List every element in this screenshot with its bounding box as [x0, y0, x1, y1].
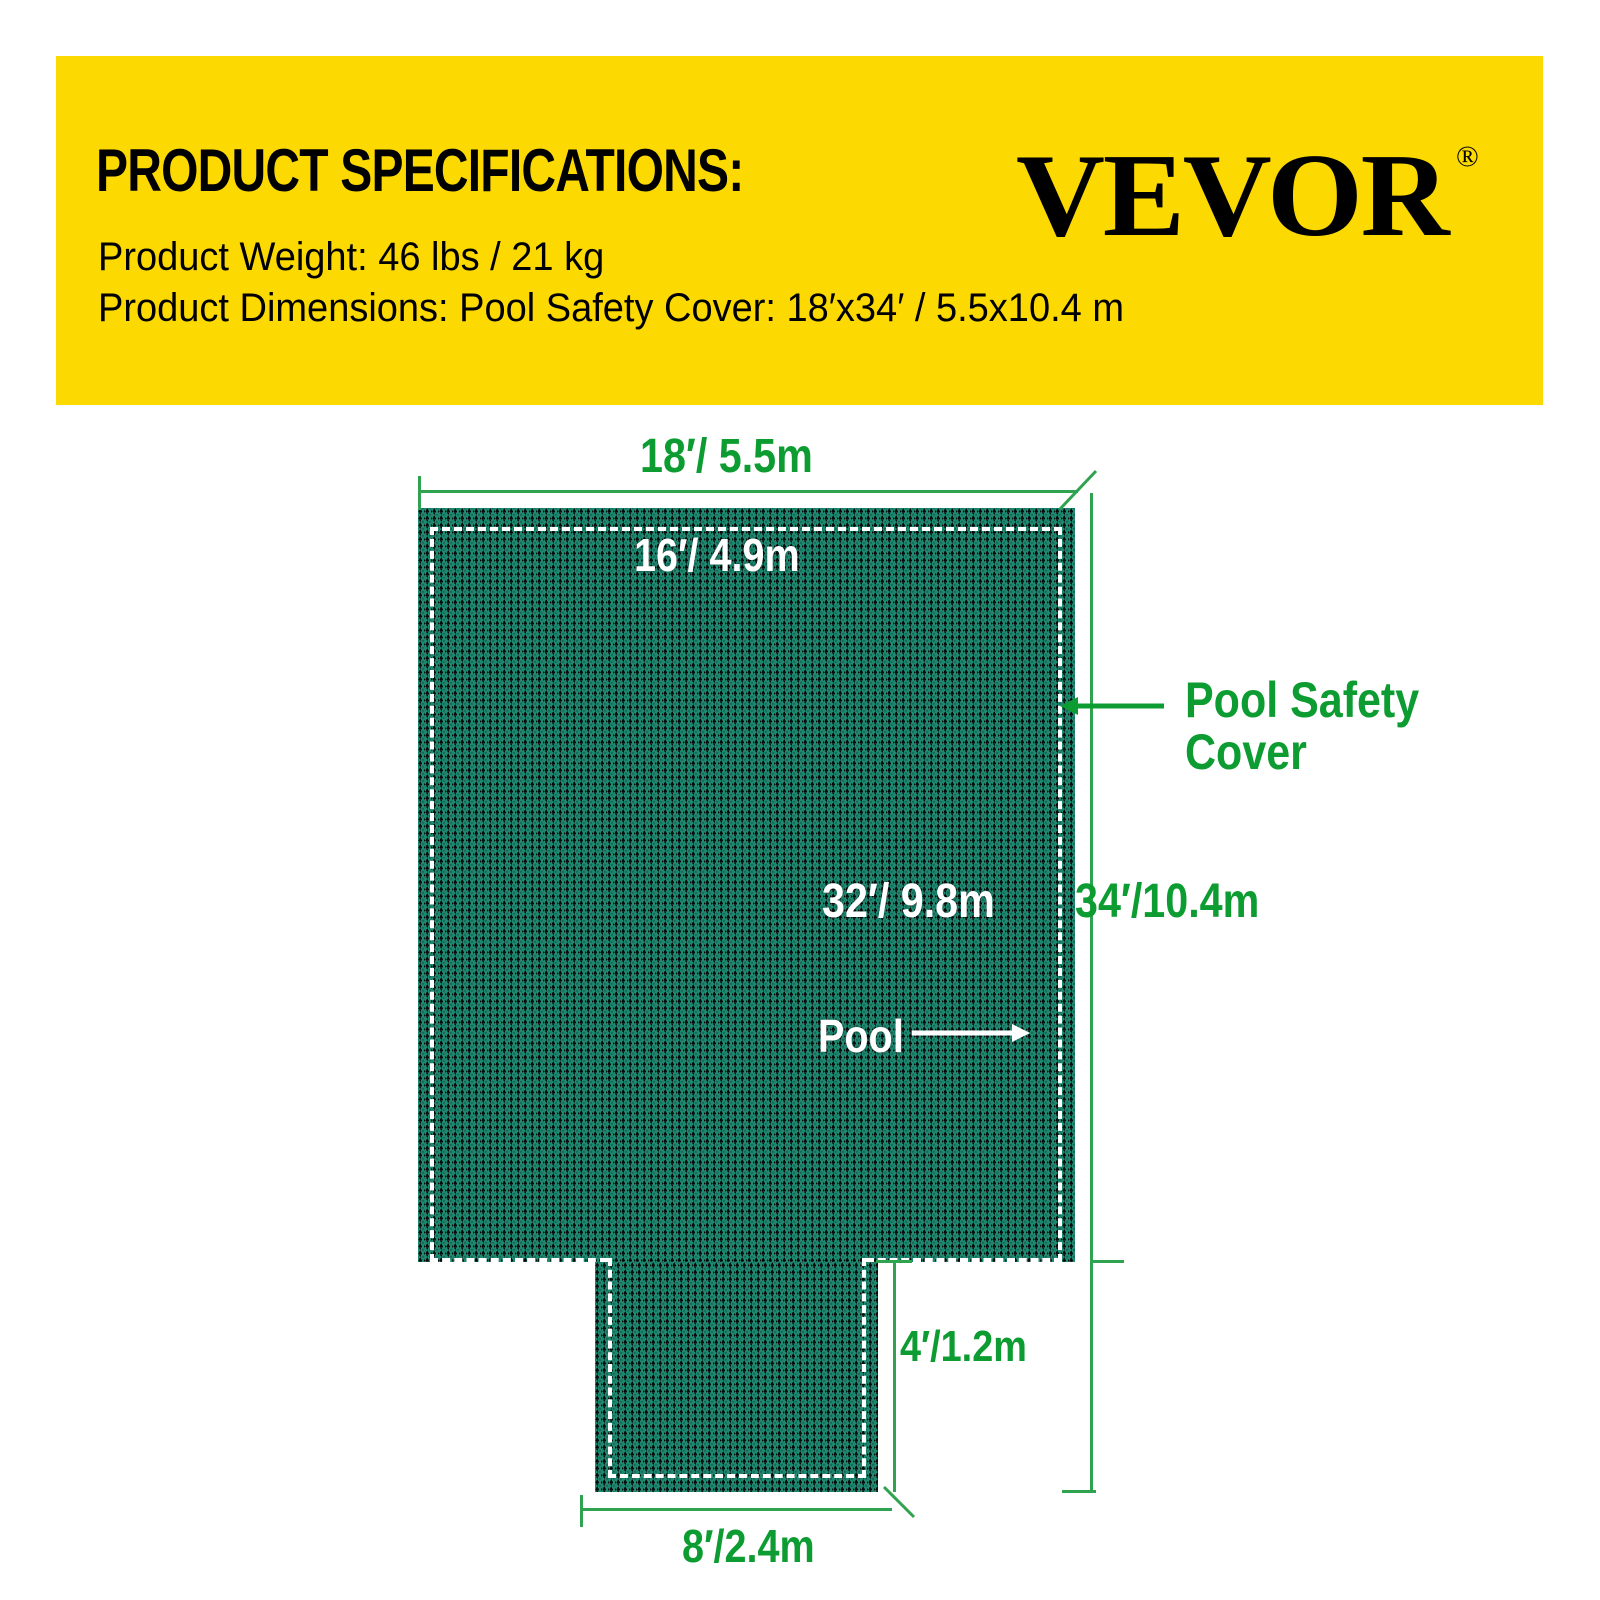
pool-outline-bottom-left [430, 1258, 608, 1262]
dim-arrow-bottom-right [880, 1483, 930, 1533]
pool-callout-arrow-icon [912, 1017, 1034, 1049]
label-pool-width: 16′/ 4.9m [634, 532, 800, 579]
step-outline-bottom [608, 1474, 866, 1478]
label-cover-callout-line1: Pool Safety [1185, 675, 1419, 726]
pool-outline-left [430, 527, 434, 1262]
label-cover-length: 34′/10.4m [1075, 878, 1259, 927]
dim-tick-right-mid [1090, 1260, 1124, 1263]
step-outline-left [608, 1258, 612, 1478]
registered-trademark-icon: ® [1456, 140, 1479, 174]
dim-tick-bottom-left [580, 1495, 583, 1527]
page-title: PRODUCT SPECIFICATIONS: [96, 136, 743, 205]
dim-arrow-top-right [1060, 467, 1110, 523]
dim-line-right [1090, 493, 1093, 1493]
pool-cover-diagram: 18′/ 5.5m 16′/ 4.9m 32′/ 9.8m 34′/10.4m … [0, 405, 1600, 1600]
cover-step-extension [595, 1262, 878, 1492]
dim-line-top [418, 490, 1078, 493]
dim-tick-right-bottom [1062, 1490, 1096, 1493]
label-cover-width: 18′/ 5.5m [640, 433, 813, 482]
dim-line-step-depth [893, 1260, 896, 1492]
dim-tick-step-top [876, 1260, 912, 1263]
label-step-depth: 4′/1.2m [900, 1325, 1027, 1370]
step-outline-right [862, 1258, 866, 1478]
cover-callout-arrow-icon [1060, 690, 1170, 722]
label-pool-callout: Pool [818, 1013, 904, 1060]
label-cover-callout-line2: Cover [1185, 727, 1307, 778]
pool-outline-right [1058, 527, 1062, 1262]
vevor-logo: VEVOR [1016, 128, 1447, 265]
product-spec-banner: PRODUCT SPECIFICATIONS: Product Weight: … [56, 56, 1543, 405]
dim-tick-top-left [418, 476, 421, 510]
spec-dimensions: Product Dimensions: Pool Safety Cover: 1… [98, 283, 1124, 334]
spec-weight: Product Weight: 46 lbs / 21 kg [98, 232, 1124, 283]
label-step-width: 8′/2.4m [682, 1523, 815, 1570]
label-pool-length: 32′/ 9.8m [822, 878, 995, 927]
dim-line-bottom [580, 1508, 892, 1511]
